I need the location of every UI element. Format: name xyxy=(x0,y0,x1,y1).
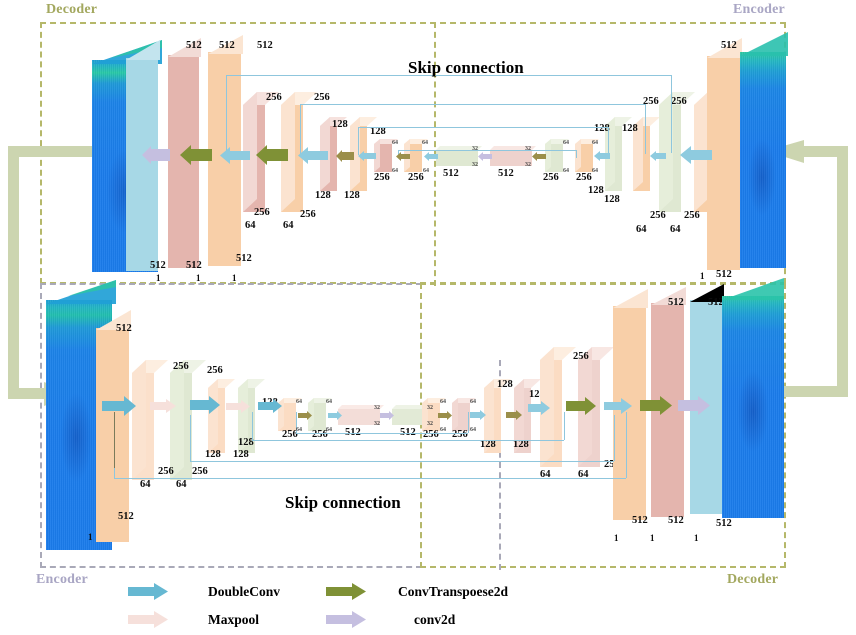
num-bottom-bn-256-c: 256 xyxy=(423,430,439,441)
num-top-128-f: 128 xyxy=(622,124,638,135)
tick-bottom-32-b: 32 xyxy=(374,421,380,427)
top-arrow-mid-2 xyxy=(424,152,438,161)
num-bottom-depth-1-a: 1 xyxy=(88,533,93,542)
num-top-128-g: 128 xyxy=(588,186,604,197)
loop-left-vertical xyxy=(8,146,19,399)
tick-bottom-64-e: 64 xyxy=(440,399,446,405)
num-bottom-128-c: 128 xyxy=(205,450,221,461)
legend-item-maxpool: Maxpool xyxy=(128,611,259,628)
num-top-bn-256-a: 256 xyxy=(374,173,390,184)
bottom-skip-wire-1 xyxy=(114,478,626,479)
num-top-depth-1-c: 1 xyxy=(232,274,237,283)
bottom-arrow-mid-6 xyxy=(506,410,522,420)
bottom-slab-peach-out-top xyxy=(613,289,651,308)
tick-top-32-c: 32 xyxy=(525,146,531,152)
num-bottom-depth-1-c: 1 xyxy=(650,534,655,543)
tick-top-32-b: 32 xyxy=(472,162,478,168)
bottom-skip-wire-1-right xyxy=(626,412,627,478)
num-top-bn-512-a: 512 xyxy=(443,169,459,180)
bottom-arrow-mid-5 xyxy=(470,410,486,420)
num-bottom-128-h: 128 xyxy=(513,440,529,451)
num-top-64-d: 64 xyxy=(670,225,681,236)
top-arrow-convtranspose-3 xyxy=(336,150,354,162)
top-arrow-mid-4 xyxy=(532,152,546,161)
num-top-128-c: 128 xyxy=(315,191,331,202)
region-label-bottom-right: Decoder xyxy=(727,572,778,588)
loop-right-horizontal-top xyxy=(800,146,848,157)
num-bottom-512-c: 512 xyxy=(668,298,684,309)
tick-bottom-64-d: 64 xyxy=(326,427,332,433)
bottom-arrow-convtranspose-1 xyxy=(566,397,596,415)
top-skip-wire-2 xyxy=(300,104,645,105)
bottom-arrow-mid-2 xyxy=(328,411,342,420)
tick-top-32-d: 32 xyxy=(525,162,531,168)
bottom-arrow-maxpool-1 xyxy=(150,399,176,413)
bottom-arrow-doubleconv-5 xyxy=(604,398,632,414)
num-top-128-h: 128 xyxy=(604,195,620,206)
tick-bottom-64-g: 64 xyxy=(440,427,446,433)
top-arrow-doubleconv-in xyxy=(680,146,712,164)
num-bottom-512-h: 512 xyxy=(716,519,732,530)
right-arrow-icon xyxy=(128,583,168,600)
bottom-skip-wire-4-right xyxy=(468,412,469,433)
bottom-arrow-maxpool-2 xyxy=(226,400,250,413)
num-top-512-a: 512 xyxy=(186,41,202,52)
num-top-512-g: 512 xyxy=(721,41,737,52)
top-arrow-mid-3 xyxy=(478,152,492,161)
bottom-arrow-doubleconv-2 xyxy=(190,396,220,414)
num-top-64-a: 64 xyxy=(245,221,256,232)
bottom-spectrogram-output xyxy=(722,296,784,518)
tick-top-64-a: 64 xyxy=(392,140,398,146)
bottom-skip-wire-3-left xyxy=(252,412,253,440)
tick-top-64-e: 64 xyxy=(563,140,569,146)
num-top-128-d: 128 xyxy=(344,191,360,202)
num-bottom-depth-1-d: 1 xyxy=(694,534,699,543)
bottom-arrow-convtranspose-2 xyxy=(640,396,672,415)
loop-right-vertical xyxy=(837,146,848,397)
skip-connection-title-top: Skip connection xyxy=(408,58,524,78)
bottom-block-128-peach-3d xyxy=(208,379,236,457)
num-bottom-256-a: 256 xyxy=(173,362,189,373)
bottom-skip-wire-2 xyxy=(190,461,614,462)
bottom-skip-wire-2-left xyxy=(190,415,191,461)
num-bottom-64-a: 64 xyxy=(140,480,151,491)
num-top-128-a: 128 xyxy=(332,120,348,131)
num-top-256-g: 256 xyxy=(650,211,666,222)
bottom-skip-wire-3-right xyxy=(564,412,565,440)
num-top-bn-256-d: 256 xyxy=(576,173,592,184)
tick-bottom-64-a: 64 xyxy=(296,399,302,405)
num-top-256-a: 256 xyxy=(266,93,282,104)
tick-bottom-64-f: 64 xyxy=(470,399,476,405)
num-top-depth-1-d: 1 xyxy=(700,272,705,281)
num-top-128-b: 128 xyxy=(370,127,386,138)
bottom-arrow-doubleconv-1 xyxy=(102,396,136,416)
num-top-512-c: 512 xyxy=(257,41,273,52)
num-bottom-512-g: 512 xyxy=(668,516,684,527)
top-arrow-doubleconv-1 xyxy=(220,147,250,164)
tick-bottom-64-b: 64 xyxy=(326,399,332,405)
legend-label-maxpool: Maxpool xyxy=(208,612,259,628)
num-top-256-d: 256 xyxy=(300,210,316,221)
top-slab-sky-top xyxy=(126,40,162,60)
top-skip-wire-1-left xyxy=(226,75,227,153)
right-arrow-icon xyxy=(128,611,168,628)
top-skip-wire-1-right xyxy=(671,75,672,153)
num-top-512-b: 512 xyxy=(219,41,235,52)
legend-label-convtranspose2d: ConvTranspoese2d xyxy=(398,584,508,600)
region-label-bottom-left: Encoder xyxy=(36,572,88,588)
bottom-arrow-mid-3 xyxy=(380,411,394,420)
num-top-512-d: 512 xyxy=(150,261,166,272)
tick-bottom-32-c: 32 xyxy=(427,405,433,411)
right-arrow-icon xyxy=(326,583,366,600)
top-skip-wire-2-right xyxy=(645,104,646,154)
figure-root: Decoder Encoder Encoder Decoder xyxy=(0,0,856,635)
num-bottom-512-a: 512 xyxy=(116,324,132,335)
num-top-512-e: 512 xyxy=(186,261,202,272)
bottom-skip-wire-1-left-stub xyxy=(114,412,115,468)
legend-label-doubleconv: DoubleConv xyxy=(208,584,280,600)
num-bottom-128-d: 128 xyxy=(233,450,249,461)
legend-item-conv2d: conv2d xyxy=(326,611,455,628)
tick-top-64-g: 64 xyxy=(563,168,569,174)
tick-bottom-64-h: 64 xyxy=(470,427,476,433)
bottom-arrow-doubleconv-3 xyxy=(258,399,282,413)
num-bottom-512-b: 512 xyxy=(118,512,134,523)
tick-top-64-d: 64 xyxy=(423,168,429,174)
num-bottom-bn-256-d: 256 xyxy=(452,430,468,441)
top-arrow-convtranspose-1 xyxy=(180,145,212,165)
bottom-spectrogram-input-skew xyxy=(46,280,116,304)
bottom-arrow-mid-4 xyxy=(438,411,452,420)
bottom-skip-wire-3 xyxy=(252,440,564,441)
bottom-spectrogram-output-skew xyxy=(722,278,786,300)
num-bottom-depth-1-b: 1 xyxy=(614,534,619,543)
tick-top-64-f: 64 xyxy=(592,140,598,146)
bottom-skip-wire-4 xyxy=(296,433,468,434)
tick-top-32-a: 32 xyxy=(472,146,478,152)
top-arrow-convtranspose-2 xyxy=(256,145,288,165)
top-skip-wire-4 xyxy=(398,150,576,151)
bottom-skip-wire-2-right xyxy=(614,415,615,461)
tick-bottom-32-d: 32 xyxy=(427,421,433,427)
top-slab-sky xyxy=(126,58,158,271)
tick-top-64-c: 64 xyxy=(392,168,398,174)
num-bottom-256-e: 256 xyxy=(573,352,589,363)
num-bottom-128-g: 128 xyxy=(480,440,496,451)
top-arrow-mid-1 xyxy=(396,152,410,161)
num-bottom-64-b: 64 xyxy=(176,480,187,491)
tick-bottom-64-c: 64 xyxy=(296,427,302,433)
bottom-arrow-doubleconv-4 xyxy=(528,401,550,415)
tick-top-64-b: 64 xyxy=(422,140,428,146)
top-arrow-conv2d xyxy=(142,146,170,164)
legend-label-conv2d: conv2d xyxy=(414,612,455,628)
num-bottom-256-c: 256 xyxy=(158,467,174,478)
num-bottom-256-d: 256 xyxy=(192,467,208,478)
region-label-top-left: Decoder xyxy=(46,2,97,18)
num-top-512-f: 512 xyxy=(236,254,252,265)
num-top-depth-1-b: 1 xyxy=(196,274,201,283)
region-label-top-right: Encoder xyxy=(733,2,785,18)
num-bottom-128-e: 128 xyxy=(497,380,513,391)
tick-bottom-32-a: 32 xyxy=(374,405,380,411)
skip-connection-title-bottom: Skip connection xyxy=(285,493,401,513)
bottom-slab-peach-in xyxy=(96,328,129,542)
legend-item-doubleconv: DoubleConv xyxy=(128,583,280,600)
num-top-bn-512-b: 512 xyxy=(498,169,514,180)
num-top-depth-1-a: 1 xyxy=(156,274,161,283)
top-spectrogram-input-skew xyxy=(740,32,790,56)
num-top-64-c: 64 xyxy=(636,225,647,236)
top-spectrogram-input xyxy=(740,52,786,268)
num-top-bn-256-c: 256 xyxy=(543,173,559,184)
num-top-64-b: 64 xyxy=(283,221,294,232)
bottom-arrow-mid-1 xyxy=(298,411,312,420)
num-bottom-512-f: 512 xyxy=(632,516,648,527)
top-arrow-mid-6 xyxy=(650,151,666,161)
num-top-256-c: 256 xyxy=(254,208,270,219)
top-skip-wire-4-right xyxy=(576,150,577,158)
top-skip-wire-3 xyxy=(358,127,608,128)
top-arrow-doubleconv-2 xyxy=(298,147,328,164)
num-top-256-f: 256 xyxy=(671,97,687,108)
top-arrow-doubleconv-3 xyxy=(358,151,376,161)
num-top-256-h: 256 xyxy=(684,211,700,222)
num-top-bn-256-b: 256 xyxy=(408,173,424,184)
num-bottom-256-b: 256 xyxy=(207,366,223,377)
num-top-256-b: 256 xyxy=(314,93,330,104)
right-arrow-icon xyxy=(326,611,366,628)
bottom-arrow-conv2d xyxy=(678,396,710,415)
top-arrow-mid-5 xyxy=(594,151,610,161)
tick-top-64-h: 64 xyxy=(592,168,598,174)
legend-item-convtranspose2d: ConvTranspoese2d xyxy=(326,583,508,600)
